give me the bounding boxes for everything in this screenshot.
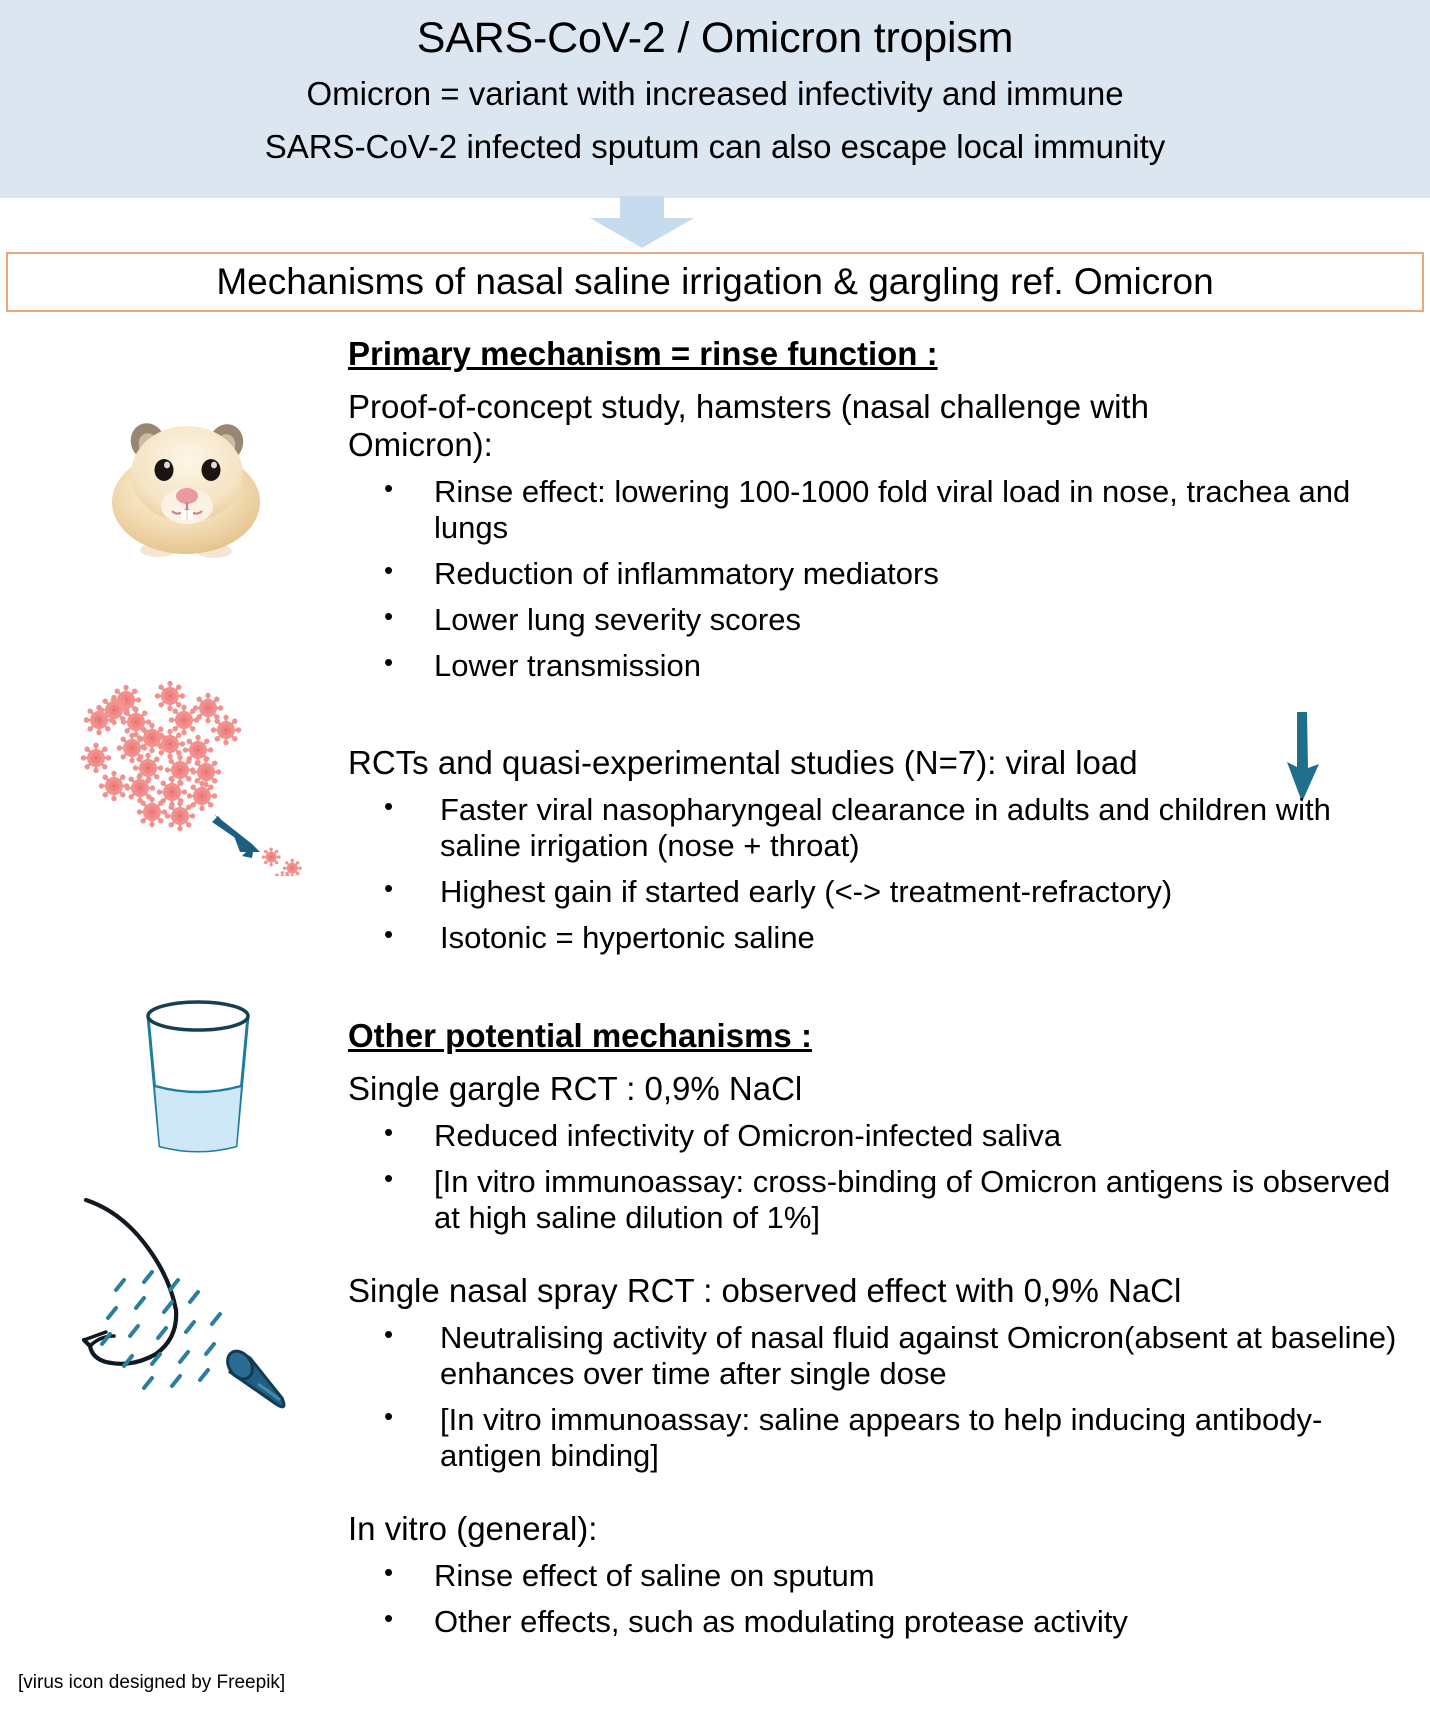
rcts-intro: RCTs and quasi-experimental studies (N=7… [348,744,1420,782]
spacer [348,1474,1420,1510]
invitro-bullets: Rinse effect of saline on sputum Other e… [348,1558,1420,1640]
header-subtitle-line-1: Omicron = variant with increased infecti… [0,73,1430,115]
header-banner: SARS-CoV-2 / Omicron tropism Omicron = v… [0,0,1430,198]
other-mechanisms-heading: Other potential mechanisms : [348,1016,1420,1056]
rcts-bullets: Faster viral nasopharyngeal clearance in… [348,792,1420,956]
mechanisms-box-title: Mechanisms of nasal saline irrigation & … [216,262,1213,303]
list-item: Lower lung severity scores [348,602,1420,638]
hamster-photo-icon [86,390,296,565]
spacer [348,1236,1420,1272]
primary-mechanism-intro: Proof-of-concept study, hamsters (nasal … [348,388,1278,465]
list-item: Isotonic = hypertonic saline [348,920,1420,956]
primary-mechanism-heading: Primary mechanism = rinse function : [348,334,1420,374]
content-column: Primary mechanism = rinse function : Pro… [348,334,1420,1640]
list-item: Highest gain if started early (<-> treat… [348,874,1420,910]
gargle-rct-bullets: Reduced infectivity of Omicron-infected … [348,1118,1420,1236]
spray-rct-bullets: Neutralising activity of nasal fluid aga… [348,1320,1420,1474]
invitro-intro: In vitro (general): [348,1510,1420,1548]
water-glass-icon [128,1000,268,1160]
list-item: Reduced infectivity of Omicron-infected … [348,1118,1420,1154]
list-item: Neutralising activity of nasal fluid aga… [348,1320,1420,1392]
page-title: SARS-CoV-2 / Omicron tropism [0,14,1430,63]
spacer [348,956,1420,1016]
gargle-rct-intro: Single gargle RCT : 0,9% NaCl [348,1070,1420,1108]
mechanisms-box: Mechanisms of nasal saline irrigation & … [6,252,1424,312]
primary-mechanism-bullets: Rinse effect: lowering 100-1000 fold vir… [348,474,1420,684]
list-item: [In vitro immunoassay: saline appears to… [348,1402,1420,1474]
spray-rct-intro: Single nasal spray RCT : observed effect… [348,1272,1420,1310]
list-item: Reduction of inflammatory mediators [348,556,1420,592]
list-item: Rinse effect of saline on sputum [348,1558,1420,1594]
list-item: Other effects, such as modulating protea… [348,1604,1420,1640]
nasal-spray-icon [44,1186,314,1416]
list-item: Lower transmission [348,648,1420,684]
list-item: Rinse effect: lowering 100-1000 fold vir… [348,474,1420,546]
header-subtitle-line-2: SARS-CoV-2 infected sputum can also esca… [0,126,1430,168]
image-credit: [virus icon designed by Freepik] [18,1672,285,1694]
list-item: [In vitro immunoassay: cross-binding of … [348,1164,1420,1236]
virus-particles-icon [74,676,334,876]
down-block-arrow-icon [582,196,702,248]
spacer [348,684,1420,744]
list-item: Faster viral nasopharyngeal clearance in… [348,792,1420,864]
